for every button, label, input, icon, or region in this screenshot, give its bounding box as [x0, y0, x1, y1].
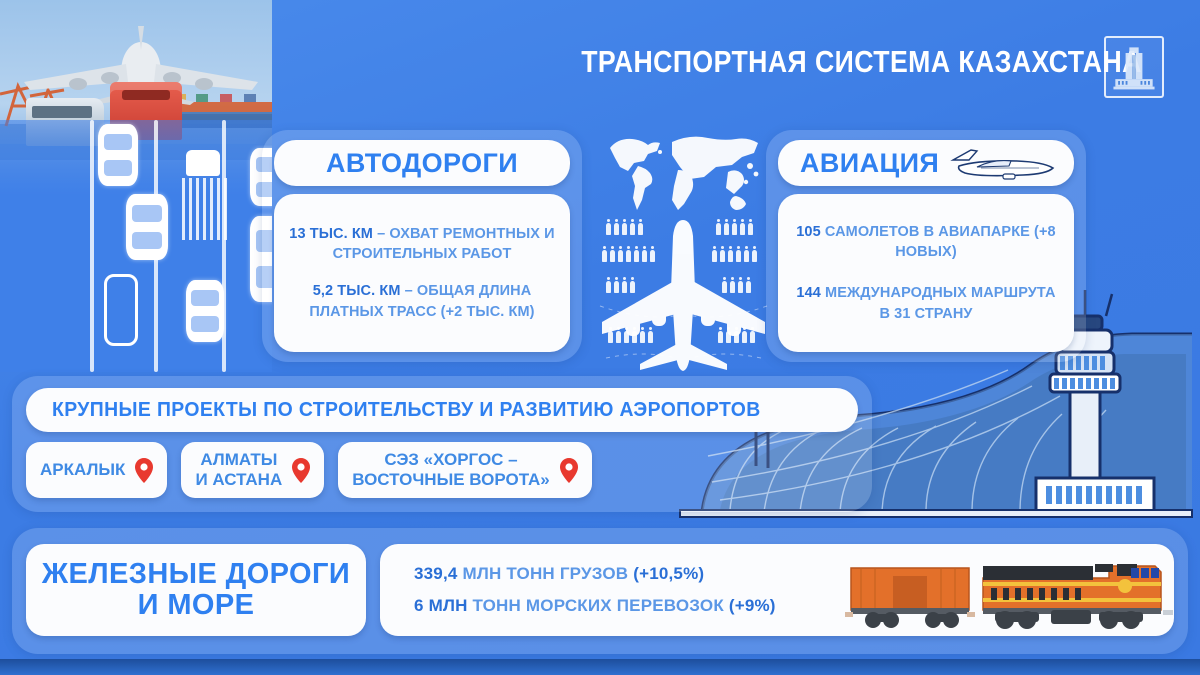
band-rail-title: ЖЕЛЕЗНЫЕ ДОРОГИ И МОРЕ	[42, 559, 350, 622]
bus-silhouette	[104, 274, 138, 346]
stat-roads-toll: 5,2 ТЫС. КМ – ОБЩАЯ ДЛИНА ПЛАТНЫХ ТРАСС …	[288, 281, 556, 322]
stat-value: 6 МЛН	[414, 596, 468, 615]
transport-photo-collage	[0, 0, 272, 372]
band-airports-header: КРУПНЫЕ ПРОЕКТЫ ПО СТРОИТЕЛЬСТВУ И РАЗВИ…	[26, 388, 858, 432]
car-silhouette	[186, 280, 224, 342]
stat-roads-repair: 13 ТЫС. КМ – ОХВАТ РЕМОНТНЫХ И СТРОИТЕЛЬ…	[288, 224, 556, 265]
stat-value: 5,2 ТЫС. КМ	[313, 283, 401, 299]
stat-text: САМОЛЕТОВ В АВИАПАРКЕ (+8 НОВЫХ)	[821, 224, 1056, 261]
stat-value: 144	[796, 285, 821, 301]
card-roads-body: 13 ТЫС. КМ – ОХВАТ РЕМОНТНЫХ И СТРОИТЕЛЬ…	[274, 194, 570, 352]
world-map-graphic	[600, 130, 765, 225]
stat-text: МЕЖДУНАРОДНЫХ МАРШРУТА В 31 СТРАНУ	[821, 285, 1056, 322]
card-aviation-title: АВИАЦИЯ	[800, 148, 939, 179]
people-icons-group	[716, 222, 756, 240]
people-icons-group	[602, 249, 658, 267]
tram-silhouette	[186, 150, 220, 176]
city-label: АЛМАТЫ И АСТАНА	[195, 450, 282, 489]
city-pill-arkalyk[interactable]: АРКАЛЫК	[26, 442, 167, 498]
stat-delta: (+10,5%)	[633, 564, 704, 583]
lane-marking	[90, 120, 94, 372]
card-aviation-header: АВИАЦИЯ	[778, 140, 1074, 186]
card-roads-title: АВТОДОРОГИ	[326, 148, 518, 179]
band-airports-title: КРУПНЫЕ ПРОЕКТЫ ПО СТРОИТЕЛЬСТВУ И РАЗВИ…	[52, 399, 761, 422]
card-aviation-body: 105 САМОЛЕТОВ В АВИАПАРКЕ (+8 НОВЫХ) 144…	[778, 194, 1074, 352]
people-icons-group	[712, 249, 760, 267]
stat-value: 13 ТЫС. КМ	[289, 226, 373, 242]
car-silhouette	[98, 124, 138, 186]
infographic-canvas: ТРАНСПОРТНАЯ СИСТЕМА КАЗАХСТАНА	[0, 0, 1200, 675]
band-airports: КРУПНЫЕ ПРОЕКТЫ ПО СТРОИТЕЛЬСТВУ И РАЗВИ…	[12, 376, 872, 512]
bottom-strip	[0, 659, 1200, 675]
city-label: АРКАЛЫК	[40, 460, 125, 480]
city-pill-row: АРКАЛЫК АЛМАТЫ И АСТАНА СЭЗ «ХОРГОС – ВО…	[26, 442, 592, 498]
stat-value: 105	[796, 224, 821, 240]
city-label: СЭЗ «ХОРГОС – ВОСТОЧНЫЕ ВОРОТА»	[352, 450, 550, 489]
airplane-side-icon	[947, 146, 1057, 180]
stat-aviation-routes: 144 МЕЖДУНАРОДНЫХ МАРШРУТА В 31 СТРАНУ	[790, 283, 1062, 324]
map-pin-icon	[560, 458, 578, 483]
stat-aviation-fleet: 105 САМОЛЕТОВ В АВИАПАРКЕ (+8 НОВЫХ)	[790, 222, 1062, 263]
card-aviation: АВИАЦИЯ 105 САМОЛЕТОВ В АВИАПАРКЕ (+8 НО…	[766, 130, 1086, 362]
tram-track	[182, 178, 228, 240]
page-title: ТРАНСПОРТНАЯ СИСТЕМА КАЗАХСТАНА	[581, 44, 1080, 80]
card-roads: АВТОДОРОГИ 13 ТЫС. КМ – ОХВАТ РЕМОНТНЫХ …	[262, 130, 582, 362]
stat-delta: (+9%)	[729, 596, 776, 615]
freight-train-illustration	[845, 552, 1190, 638]
stat-value: 339,4	[414, 564, 458, 583]
card-roads-header: АВТОДОРОГИ	[274, 140, 570, 186]
band-rail-header: ЖЕЛЕЗНЫЕ ДОРОГИ И МОРЕ	[26, 544, 366, 636]
car-silhouette	[126, 194, 168, 260]
people-icons-group	[608, 330, 656, 348]
stat-text: МЛН ТОНН ГРУЗОВ	[458, 564, 634, 583]
government-building-logo	[1104, 36, 1164, 98]
road-graphic	[0, 120, 272, 372]
city-pill-almaty-astana[interactable]: АЛМАТЫ И АСТАНА	[181, 442, 324, 498]
stat-text: ТОНН МОРСКИХ ПЕРЕВОЗОК	[468, 596, 729, 615]
map-pin-icon	[135, 458, 153, 483]
people-icons-group	[606, 222, 646, 240]
city-pill-khorgos[interactable]: СЭЗ «ХОРГОС – ВОСТОЧНЫЕ ВОРОТА»	[338, 442, 592, 498]
people-icons-group	[606, 280, 638, 298]
map-pin-icon	[292, 458, 310, 483]
